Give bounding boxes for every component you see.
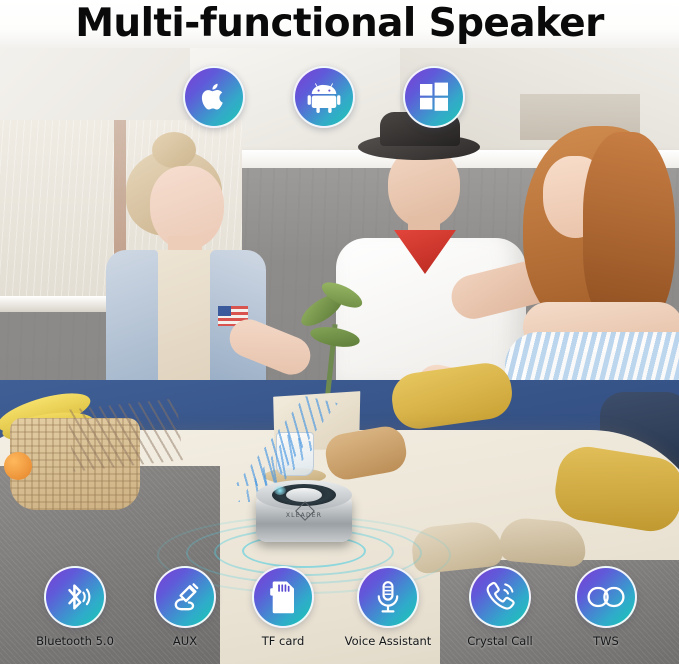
microphone-icon: [357, 566, 419, 628]
speaker-led-glow: [274, 486, 286, 495]
product-marketing-image: XLEADER Multi-functional Speaker: [0, 0, 679, 664]
phone-call-icon: [469, 566, 531, 628]
page-title: Multi-functional Speaker: [0, 1, 679, 46]
dried-lavender: [67, 398, 183, 471]
feature-label: Crystal Call: [445, 634, 555, 648]
compatibility-badge-row: [0, 66, 679, 126]
feature-label: AUX: [130, 634, 240, 648]
speaker-center-button: [286, 488, 322, 502]
feature-label: Voice Assistant: [333, 634, 443, 648]
aux-cable-icon: [154, 566, 216, 628]
feature-label: TF card: [228, 634, 338, 648]
feature-label: Bluetooth 5.0: [20, 634, 130, 648]
orange-fruit: [4, 452, 32, 480]
android-icon: [293, 66, 355, 128]
tf-card-icon: [252, 566, 314, 628]
denim-vest-left: [106, 250, 158, 400]
speaker-product: XLEADER: [246, 472, 362, 552]
feature-voice-assistant: Voice Assistant: [333, 566, 443, 648]
flower-bouquet: [290, 284, 374, 412]
feature-label: TWS: [551, 634, 661, 648]
feature-aux: AUX: [130, 566, 240, 648]
xleader-brand-text: XLEADER: [256, 512, 352, 519]
bluetooth-icon: [44, 566, 106, 628]
hair-bun: [152, 132, 196, 168]
feature-crystal-call: Crystal Call: [445, 566, 555, 648]
feature-bluetooth: Bluetooth 5.0: [20, 566, 130, 648]
feature-icon-row: Bluetooth 5.0 AUX: [0, 566, 679, 664]
apple-icon: [183, 66, 245, 128]
chain-link-tws-icon: [575, 566, 637, 628]
leaf: [309, 324, 361, 350]
title-banner: Multi-functional Speaker: [0, 0, 679, 48]
feature-tf-card: TF card: [228, 566, 338, 648]
windows-icon: [403, 66, 465, 128]
feature-tws: TWS: [551, 566, 661, 648]
